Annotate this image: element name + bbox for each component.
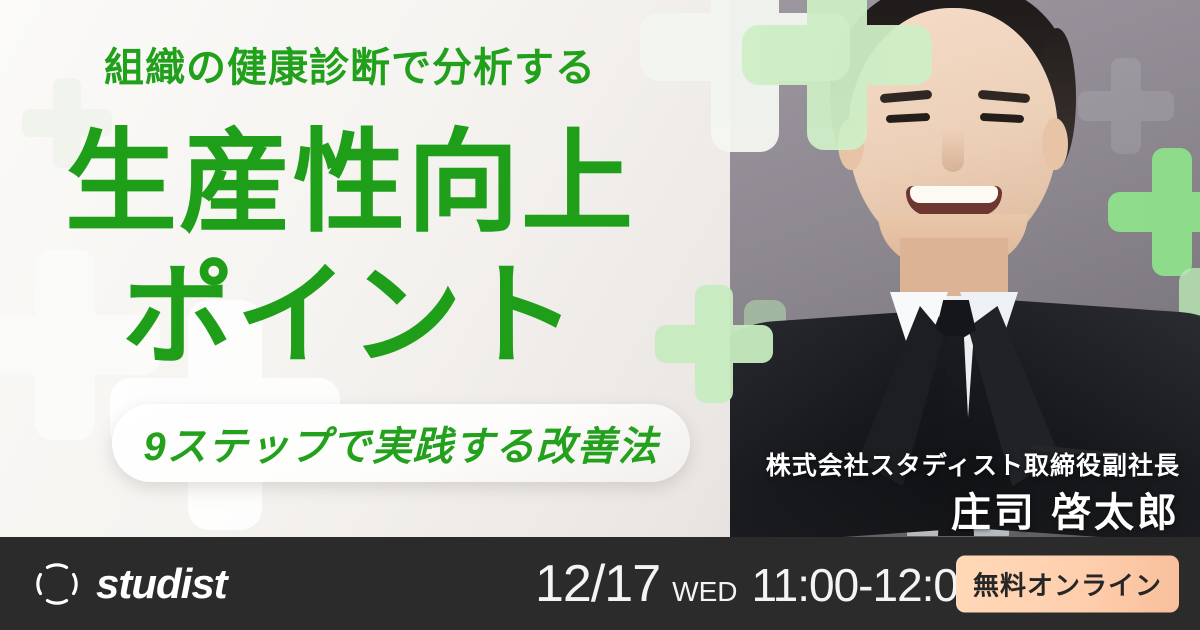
event-date: 12/17 [535,554,660,614]
hero-subtitle: 組織の健康診断で分析する [0,48,700,88]
hero-pill-label: 9ステップで実践する改善法 [143,414,658,472]
webinar-banner: 組織の健康診断で分析する 生産性向上 ポイント 9ステップで実践する改善法 株式… [0,0,1200,630]
teeth [910,186,998,203]
event-datetime: 12/17 WED 11:00-12:00 [535,554,983,614]
hero-pill-badge: 9ステップで実践する改善法 [112,404,690,482]
mouth [906,186,1002,216]
hero-title-line2: ポイント [0,260,700,372]
footer-bar: studist 12/17 WED 11:00-12:00 無料オンライン [0,537,1200,630]
hero-title-line1: 生産性向上 [0,127,700,239]
nose [942,130,964,172]
studist-logo[interactable]: studist [34,560,227,608]
cross-right-green-icon [1108,148,1200,276]
cross-top-mid-green-icon [742,0,932,150]
speaker-role: 株式会社スタディスト取締役副社長 [766,446,1180,482]
event-weekday: WED [672,576,737,608]
event-time: 11:00-12:00 [751,558,982,612]
cross-right-top-gray-icon [1078,58,1174,154]
ear-right [1042,118,1068,170]
segmented-circle-icon [34,561,80,607]
studist-wordmark: studist [96,560,227,608]
speaker-name: 庄司 啓太郎 [951,480,1180,538]
free-online-badge: 無料オンライン [956,555,1179,612]
